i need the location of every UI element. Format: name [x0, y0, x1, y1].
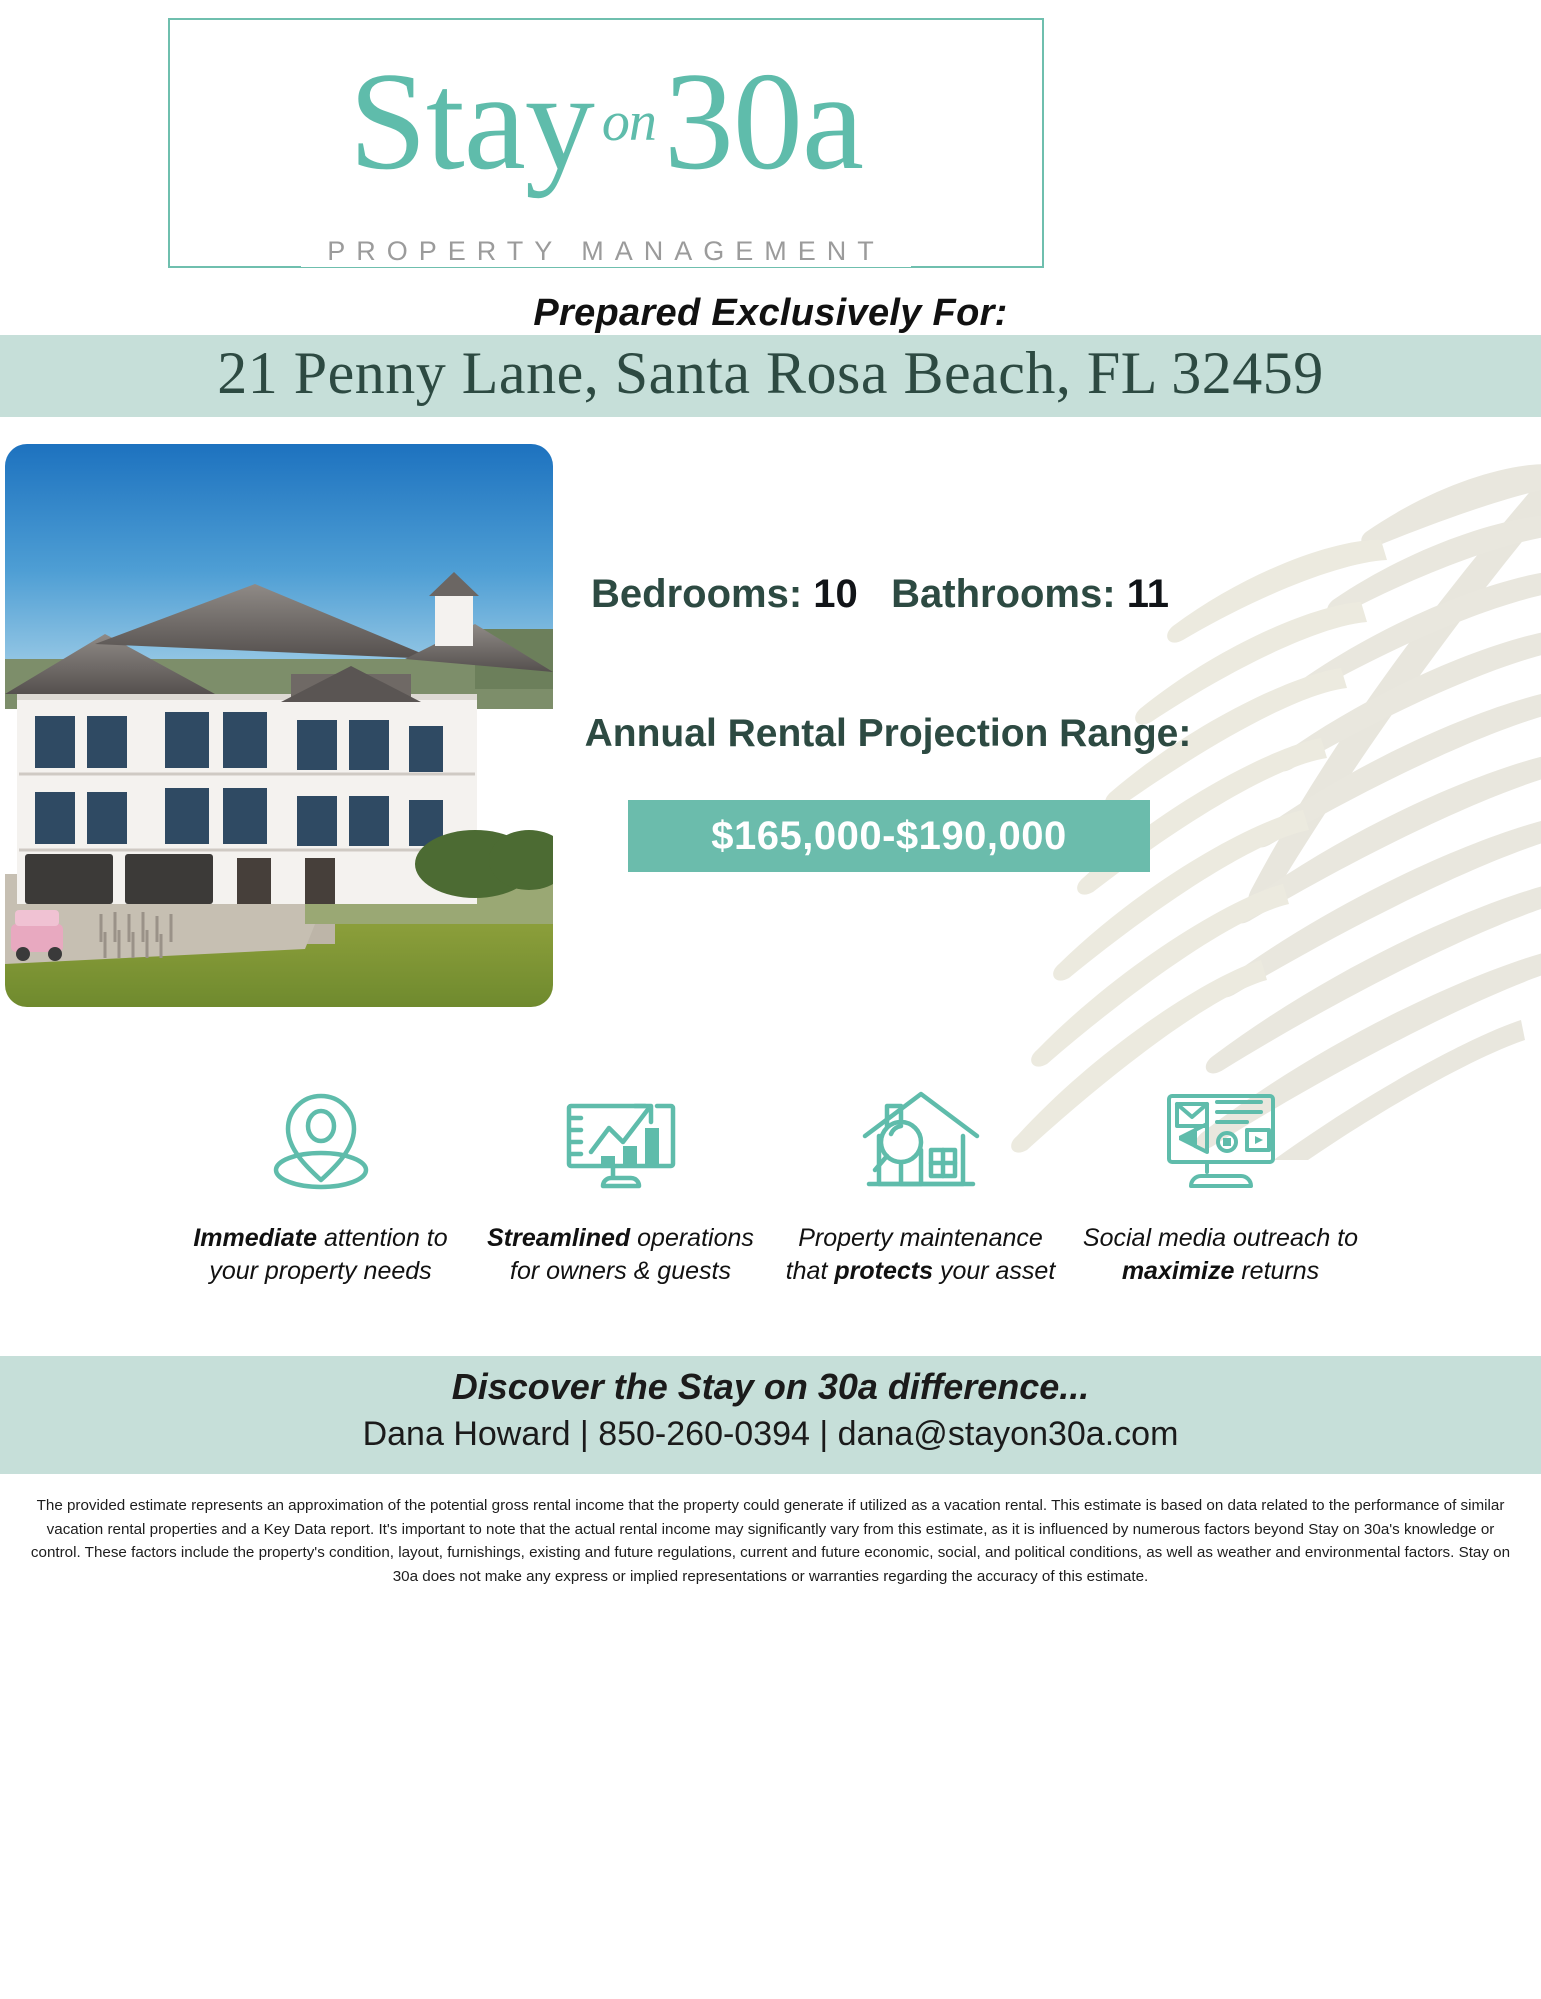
bathrooms-value: 11: [1127, 572, 1169, 616]
projection-range-box: $165,000-$190,000: [628, 800, 1150, 872]
logo-word-30a: 30a: [664, 44, 863, 199]
analytics-monitor-icon: [557, 1080, 685, 1200]
logo-word-stay: Stay: [349, 44, 594, 199]
social-media-monitor-icon: [1155, 1080, 1287, 1200]
footer-headline: Discover the Stay on 30a difference...: [0, 1366, 1541, 1408]
location-pin-icon: [261, 1080, 381, 1200]
projection-heading: Annual Rental Projection Range:: [558, 712, 1218, 756]
feature-item: Immediate attention to your property nee…: [171, 1080, 471, 1288]
palm-frond-watermark: [821, 420, 1541, 1160]
property-address: 21 Penny Lane, Santa Rosa Beach, FL 3245…: [0, 339, 1541, 408]
features-row: Immediate attention to your property nee…: [0, 1080, 1541, 1310]
feature-bold: maximize: [1122, 1257, 1235, 1285]
feature-bold: Immediate: [193, 1224, 317, 1252]
bathrooms-label: Bathrooms:: [891, 572, 1115, 616]
prepared-for-label: Prepared Exclusively For:: [0, 292, 1541, 335]
feature-caption: Property maintenance that protects your …: [771, 1222, 1071, 1288]
house-inspection-icon: [855, 1080, 987, 1200]
bed-bath-line: Bedrooms: 10 Bathrooms: 11: [560, 572, 1200, 617]
footer-contact-line[interactable]: Dana Howard | 850-260-0394 | dana@stayon…: [0, 1415, 1541, 1454]
feature-item: Property maintenance that protects your …: [771, 1080, 1071, 1288]
feature-caption: Immediate attention to your property nee…: [171, 1222, 471, 1288]
feature-rest: returns: [1234, 1257, 1319, 1285]
bedrooms-value: 10: [813, 572, 858, 616]
feature-rest: your asset: [933, 1257, 1055, 1285]
feature-caption: Streamlined operations for owners & gues…: [471, 1222, 771, 1288]
feature-bold: protects: [834, 1257, 933, 1285]
feature-item: Social media outreach to maximize return…: [1071, 1080, 1371, 1288]
logo-tagline-row: PROPERTY MANAGEMENT: [168, 228, 1044, 274]
logo-tagline: PROPERTY MANAGEMENT: [301, 236, 911, 267]
disclaimer-text: The provided estimate represents an appr…: [28, 1494, 1513, 1588]
feature-item: Streamlined operations for owners & gues…: [471, 1080, 771, 1288]
property-photo: [5, 444, 553, 1007]
projection-range-value: $165,000-$190,000: [711, 814, 1067, 859]
feature-pre: Social media outreach to: [1083, 1224, 1358, 1252]
logo-word-on: on: [594, 91, 664, 153]
bedrooms-label: Bedrooms:: [591, 572, 802, 616]
flyer-page: Stayon30a PROPERTY MANAGEMENT Prepared E…: [0, 0, 1541, 1999]
feature-bold: Streamlined: [487, 1224, 630, 1252]
logo-wordmark: Stayon30a: [168, 52, 1044, 192]
feature-caption: Social media outreach to maximize return…: [1071, 1222, 1371, 1288]
